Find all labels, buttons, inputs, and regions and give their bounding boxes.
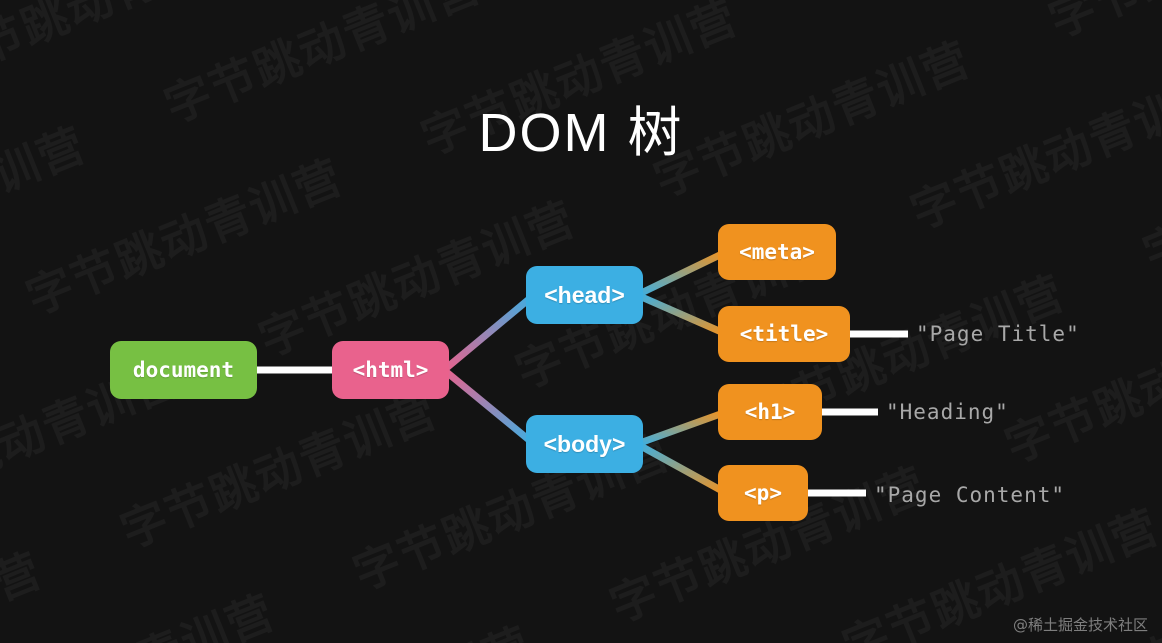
edge-body-p (637, 444, 726, 493)
value-page-title: "Page Title" (916, 322, 1080, 346)
edge-html-head (444, 295, 534, 370)
value-page-content: "Page Content" (874, 483, 1065, 507)
page-title: DOM 树 (0, 88, 1162, 167)
slide-canvas: 字节跳动青训营 字节跳动青训营 字节跳动青训营 字节跳动青训营 字节跳动青训营 … (0, 0, 1162, 643)
edge-body-h1 (637, 412, 726, 444)
node-meta[interactable]: <meta> (718, 224, 836, 280)
node-document[interactable]: document (110, 341, 257, 399)
node-h1[interactable]: <h1> (718, 384, 822, 440)
node-head[interactable]: <head> (526, 266, 643, 324)
node-html[interactable]: <html> (332, 341, 449, 399)
credit-watermark: @稀土掘金技术社区 (1013, 614, 1148, 635)
edge-head-title (637, 295, 726, 334)
node-p[interactable]: <p> (718, 465, 808, 521)
value-heading: "Heading" (886, 400, 1009, 424)
node-body[interactable]: <body> (526, 415, 643, 473)
edge-html-body (444, 370, 534, 444)
node-title[interactable]: <title> (718, 306, 850, 362)
edge-head-meta (637, 252, 726, 295)
